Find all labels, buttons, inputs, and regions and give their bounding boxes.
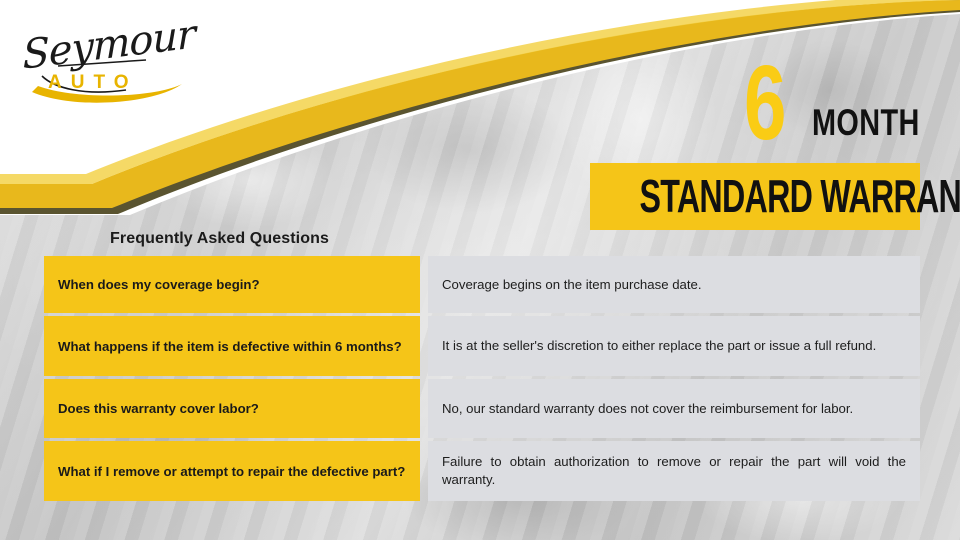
- warranty-slide: Seymour AUTO 6 MONTH STANDARD WARRANTY F…: [0, 0, 960, 540]
- standard-warranty-banner: STANDARD WARRANTY: [590, 163, 920, 230]
- faq-table: When does my coverage begin? Coverage be…: [44, 256, 920, 504]
- faq-answer-cell: No, our standard warranty does not cover…: [428, 379, 920, 438]
- logo-subtext: AUTO: [48, 72, 137, 94]
- faq-answer-cell: Failure to obtain authorization to remov…: [428, 441, 920, 501]
- faq-answer-cell: Coverage begins on the item purchase dat…: [428, 256, 920, 313]
- faq-question-cell: What happens if the item is defective wi…: [44, 316, 420, 376]
- table-row: What if I remove or attempt to repair th…: [44, 441, 920, 501]
- table-row: What happens if the item is defective wi…: [44, 316, 920, 376]
- warranty-duration-unit: MONTH: [812, 104, 920, 141]
- warranty-duration-number: 6: [744, 50, 785, 156]
- faq-heading: Frequently Asked Questions: [110, 230, 329, 248]
- faq-answer-cell: It is at the seller's discretion to eith…: [428, 316, 920, 376]
- table-row: When does my coverage begin? Coverage be…: [44, 256, 920, 313]
- standard-warranty-label: STANDARD WARRANTY: [640, 172, 871, 220]
- faq-question-cell: What if I remove or attempt to repair th…: [44, 441, 420, 501]
- table-row: Does this warranty cover labor? No, our …: [44, 379, 920, 438]
- seymour-auto-logo: Seymour AUTO: [14, 14, 194, 110]
- faq-question-cell: Does this warranty cover labor?: [44, 379, 420, 438]
- faq-question-cell: When does my coverage begin?: [44, 256, 420, 313]
